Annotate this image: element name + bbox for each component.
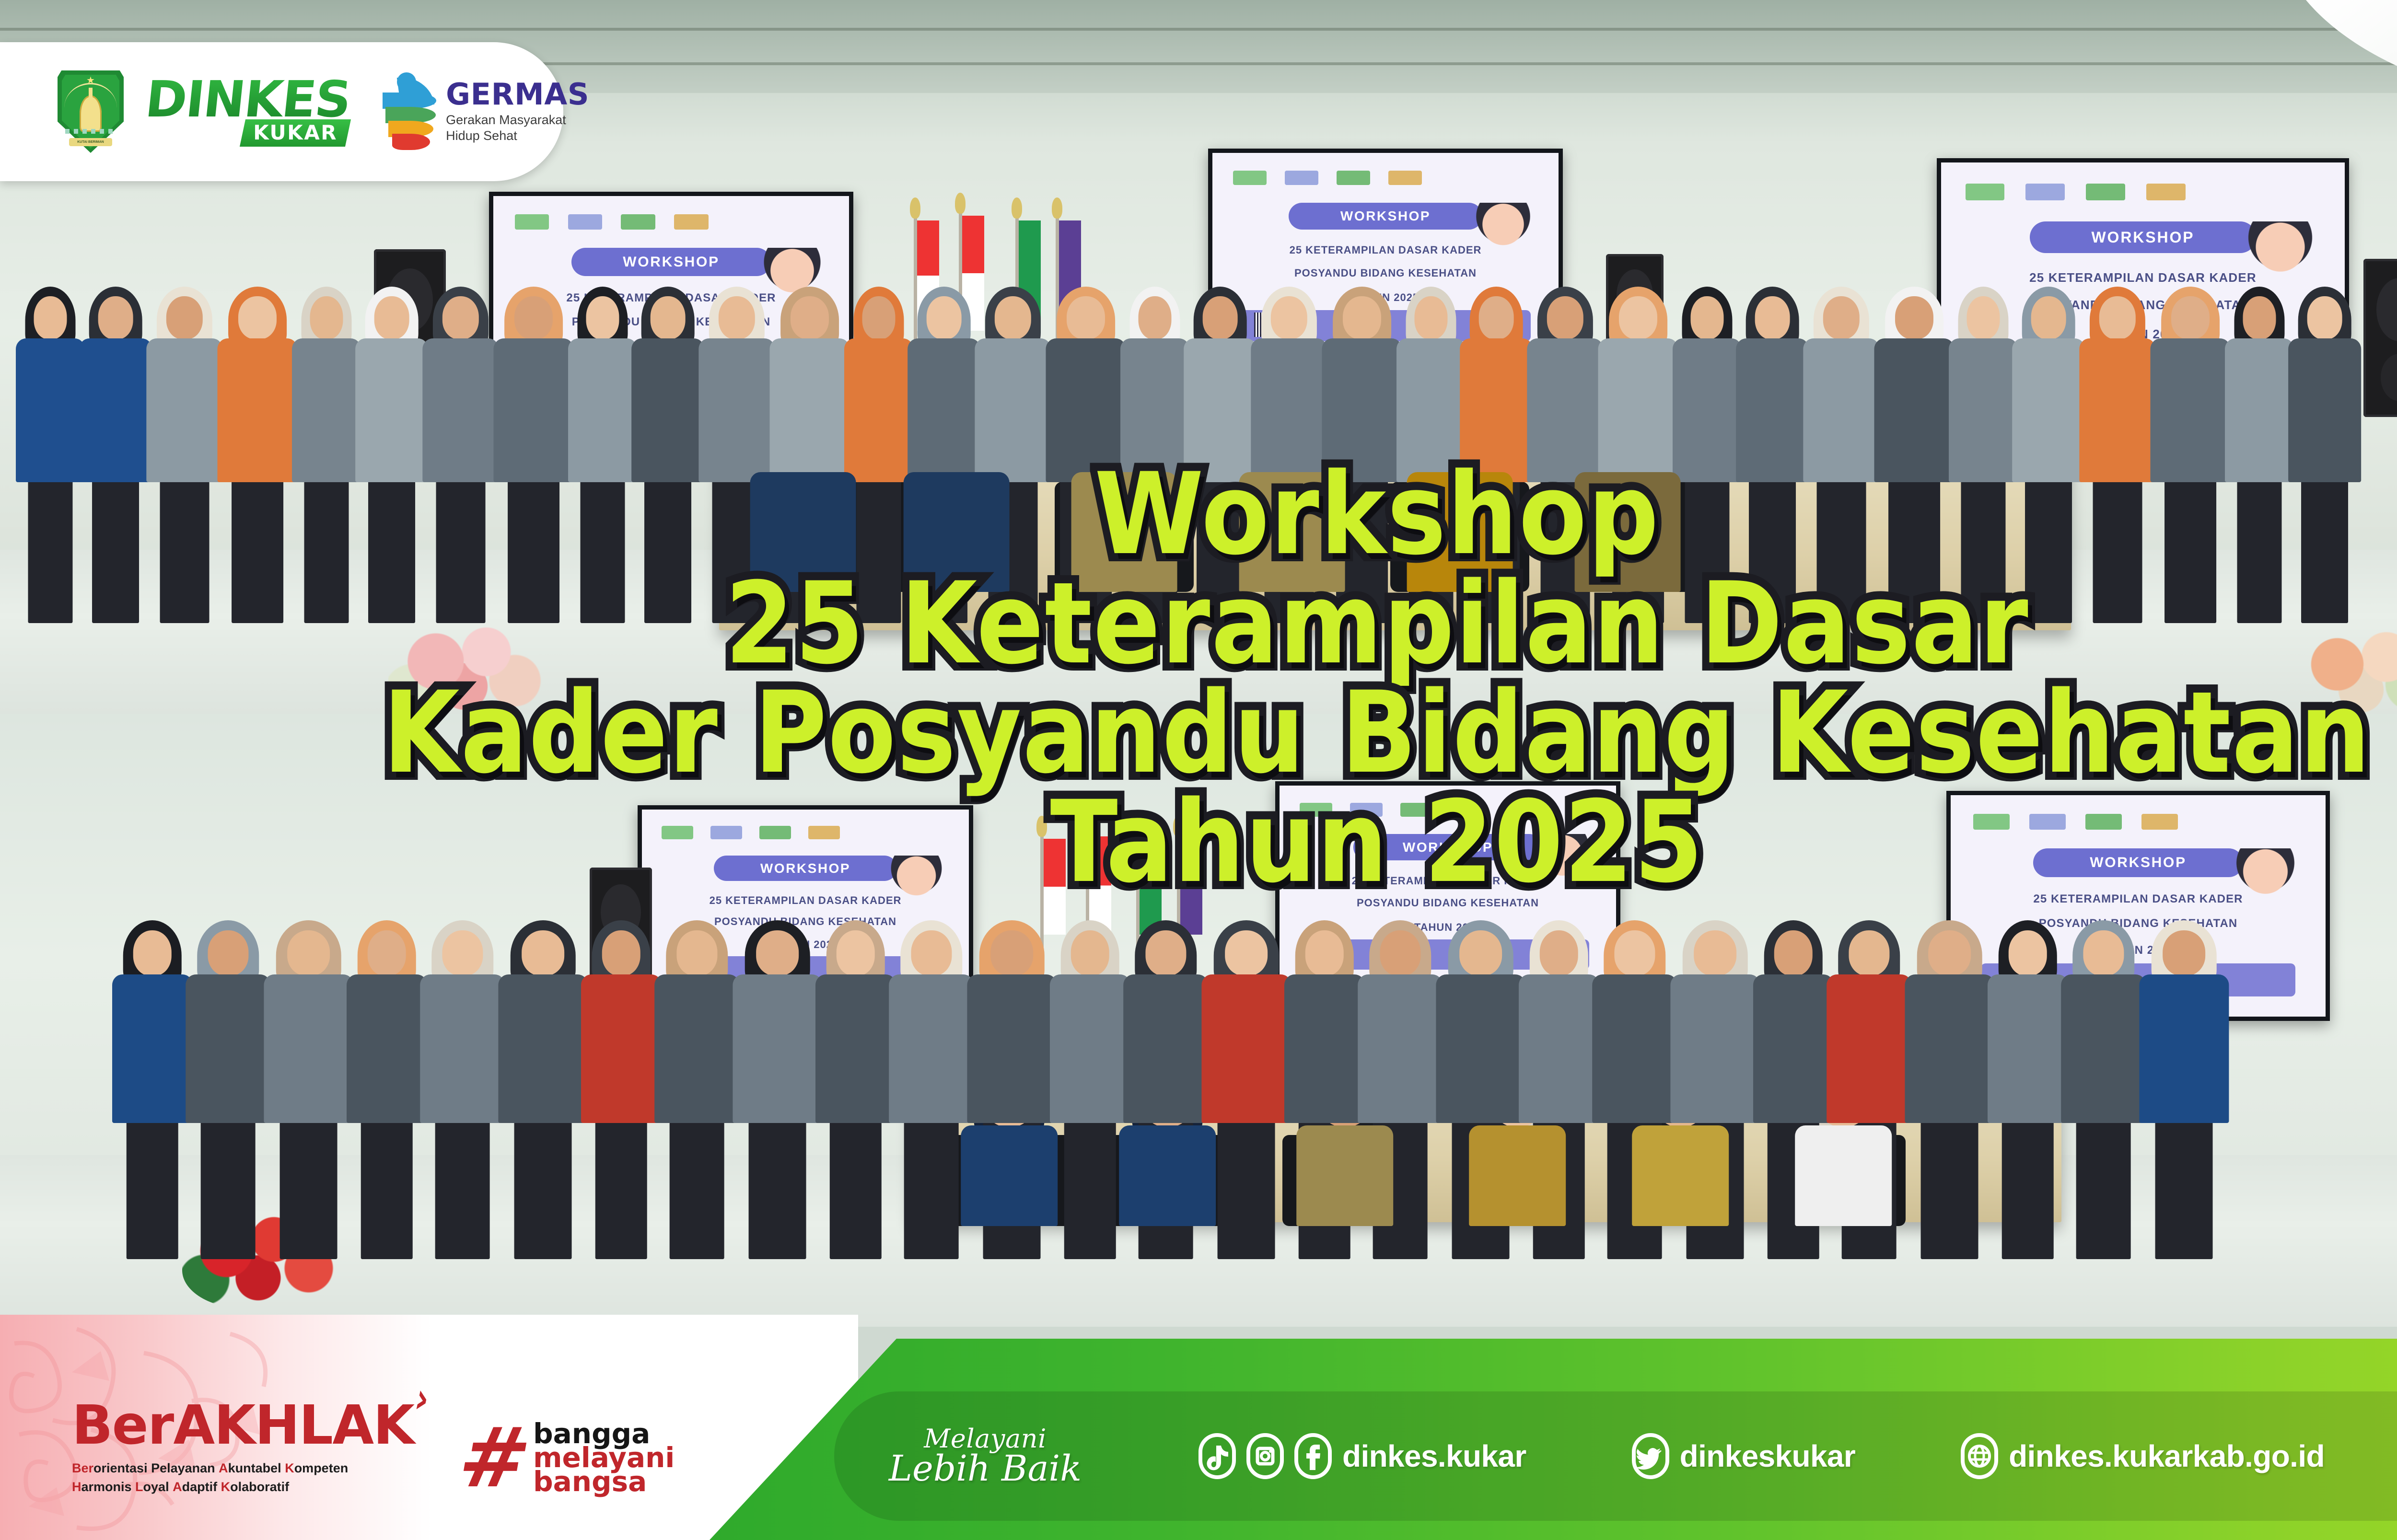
- screen-badge: WORKSHOP: [1289, 203, 1482, 230]
- person-head: [1271, 296, 1307, 339]
- person-head: [2243, 296, 2276, 339]
- person-head: [1694, 930, 1737, 975]
- person-head: [602, 930, 640, 975]
- person-body: [967, 974, 1057, 1123]
- person-body: [904, 472, 1010, 592]
- person-legs: [1217, 1120, 1275, 1259]
- person: [731, 920, 824, 1264]
- person-body: [347, 974, 427, 1123]
- person-legs: [2025, 479, 2072, 623]
- person-body: [908, 338, 980, 482]
- facebook-icon[interactable]: [1294, 1433, 1332, 1479]
- screen-illustration: [2235, 848, 2295, 915]
- person: [262, 920, 355, 1264]
- instagram-icon[interactable]: [1246, 1433, 1284, 1479]
- germas-text-block: GERMAS Gerakan Masyarakat Hidup Sehat: [446, 80, 589, 144]
- berakhlak-logo: BerAKHLAK › Berorientasi Pelayanan Akunt…: [72, 1399, 455, 1496]
- person-legs: [126, 1120, 178, 1259]
- person-head: [756, 930, 799, 975]
- footer: Melayani Lebih Baik: [0, 1315, 2397, 1540]
- berakhlak-sub-line-1: Berorientasi Pelayanan Akuntabel Kompete…: [72, 1459, 455, 1477]
- person: [2223, 287, 2295, 628]
- person-body: [654, 974, 740, 1123]
- person-head: [2008, 930, 2047, 975]
- person-body: [1575, 472, 1681, 592]
- person-body: [1670, 974, 1760, 1123]
- person: [2078, 287, 2157, 628]
- dinkes-wordmark: DINKES KUKAR: [146, 77, 350, 147]
- germas-subtitle-2: Hidup Sehat: [446, 128, 589, 144]
- person-body: [1827, 974, 1912, 1123]
- person-body: [493, 338, 573, 482]
- twitter-icon[interactable]: [1632, 1433, 1669, 1479]
- person-head: [1967, 296, 2000, 339]
- screen-badge: WORKSHOP: [2030, 221, 2256, 254]
- person-head: [1755, 296, 1790, 339]
- person-head: [310, 296, 343, 339]
- person-head: [836, 930, 875, 975]
- screen-illustration: [890, 856, 943, 914]
- person-head: [719, 296, 755, 339]
- handle-website[interactable]: dinkes.kukarkab.go.id: [2009, 1438, 2325, 1474]
- person-head: [2307, 296, 2342, 339]
- person-head: [367, 930, 406, 975]
- person: [2059, 920, 2148, 1264]
- person-body: [1239, 472, 1345, 592]
- person-head: [442, 296, 479, 339]
- person-head: [1415, 296, 1448, 339]
- person-body: [1795, 1125, 1892, 1226]
- person-body: [1736, 338, 1809, 482]
- bangga-melayani-bangsa-logo: # bangga melayani bangsa: [460, 1422, 675, 1494]
- person-body: [815, 974, 896, 1123]
- person: [630, 287, 706, 628]
- person: [110, 920, 194, 1264]
- person-body: [1120, 338, 1189, 482]
- person-head: [1203, 296, 1238, 339]
- person: [145, 287, 224, 628]
- person-legs: [368, 479, 415, 623]
- person-head: [166, 296, 203, 339]
- person-body: [1251, 338, 1327, 482]
- germas-logo: GERMAS Gerakan Masyarakat Hidup Sehat: [383, 71, 589, 152]
- person-body: [2012, 338, 2085, 482]
- person-legs: [1197, 479, 1244, 623]
- screen-line2: POSYANDU BIDANG KESEHATAN: [1226, 267, 1545, 279]
- flower-arrangement-left: [388, 623, 547, 714]
- person-body: [1201, 974, 1291, 1123]
- dinkes-text: DINKES: [143, 77, 352, 123]
- person-legs: [829, 1120, 882, 1259]
- person-head: [862, 296, 896, 339]
- person: [345, 920, 429, 1264]
- screen-badge: WORKSHOP: [1353, 834, 1542, 860]
- person: [421, 287, 500, 628]
- person: [291, 287, 362, 628]
- person-body: [1184, 338, 1257, 482]
- person-body: [186, 974, 271, 1123]
- person-legs: [2001, 1120, 2054, 1259]
- person-body: [2225, 338, 2294, 482]
- screen-illustration: [1476, 203, 1531, 265]
- person: [492, 287, 575, 628]
- person-body: [1753, 974, 1834, 1123]
- person-body: [1673, 338, 1742, 482]
- person-legs: [1749, 479, 1796, 623]
- germas-subtitle-1: Gerakan Masyarakat: [446, 112, 589, 128]
- person-head: [1691, 296, 1724, 339]
- person-body: [1527, 338, 1603, 482]
- person-body: [1071, 472, 1177, 592]
- screen-illustration: [2248, 221, 2313, 295]
- social-group-dinkes-kukar[interactable]: dinkes.kukar: [1198, 1433, 1526, 1479]
- person-body: [1050, 974, 1130, 1123]
- person-head: [1547, 296, 1583, 339]
- person-body: [698, 338, 775, 482]
- kukar-badge-label: KUKAR: [253, 121, 337, 144]
- person-body: [1436, 974, 1525, 1123]
- person-legs: [279, 1120, 337, 1259]
- person-body: [1803, 338, 1879, 482]
- person-body: [1296, 1125, 1393, 1226]
- person-head: [208, 930, 248, 975]
- person-head: [586, 296, 619, 339]
- person-body: [1284, 974, 1365, 1123]
- person: [814, 920, 897, 1264]
- person-body: [2079, 338, 2155, 482]
- person-head: [514, 296, 553, 339]
- bangga-words: bangga melayani bangsa: [533, 1422, 675, 1494]
- person-head: [676, 930, 717, 975]
- person-head: [522, 930, 565, 975]
- social-group-twitter[interactable]: dinkeskukar: [1632, 1433, 1856, 1479]
- person-head: [442, 930, 483, 975]
- person: [579, 920, 663, 1264]
- person-legs: [904, 1120, 959, 1259]
- person: [78, 287, 153, 628]
- person-legs: [748, 1120, 806, 1259]
- person-body: [631, 338, 704, 482]
- slogan-line-1: Melayani: [882, 1426, 1088, 1451]
- person-legs: [1064, 1120, 1116, 1259]
- person-body: [1119, 1125, 1216, 1226]
- person-legs: [28, 479, 73, 623]
- photo-bottom: WORKSHOP 25 KETERAMPILAN DASAR KADER POS…: [0, 714, 2397, 1327]
- person-head: [1139, 296, 1172, 339]
- screen-badge: WORKSHOP: [714, 856, 897, 880]
- person-legs: [435, 1120, 490, 1259]
- person-head: [2171, 296, 2210, 339]
- person-body: [146, 338, 222, 482]
- person-head: [1479, 296, 1514, 339]
- person-body: [16, 338, 85, 482]
- person-legs: [2093, 479, 2142, 623]
- person-body: [1632, 1125, 1729, 1226]
- person-head: [374, 296, 409, 339]
- person-head: [911, 930, 952, 975]
- person-head: [990, 930, 1034, 975]
- person-body: [581, 974, 662, 1123]
- person-head: [98, 296, 133, 339]
- person-body: [975, 338, 1051, 482]
- social-group-website[interactable]: dinkes.kukarkab.go.id: [1961, 1433, 2325, 1479]
- person-body: [498, 974, 588, 1123]
- person-body: [1519, 974, 1599, 1123]
- person-legs: [669, 1120, 724, 1259]
- person-body: [733, 974, 822, 1123]
- person-legs: [160, 479, 209, 623]
- person-body: [1988, 974, 2068, 1123]
- person-body: [1396, 338, 1466, 482]
- person-head: [238, 296, 277, 339]
- person-head: [1071, 930, 1109, 975]
- person-legs: [1961, 479, 2006, 623]
- person-legs: [514, 1120, 572, 1259]
- person-legs: [581, 479, 625, 623]
- person-legs: [1817, 479, 1866, 623]
- person-legs: [1920, 1120, 1978, 1259]
- person: [2137, 920, 2231, 1264]
- person-body: [1874, 338, 1954, 482]
- person-body: [292, 338, 361, 482]
- person-body: [1598, 338, 1678, 482]
- person-body: [750, 472, 856, 592]
- person-head: [2083, 930, 2124, 975]
- berakhlak-word-text: BerAKHLAK: [72, 1394, 414, 1457]
- person-legs: [232, 479, 283, 623]
- person-body: [355, 338, 428, 482]
- kukar-emblem-icon: ★ KUTAI BERIMAN: [58, 70, 124, 153]
- person-body: [889, 974, 974, 1123]
- person-head: [1305, 930, 1344, 975]
- person-legs: [436, 479, 486, 623]
- screen-badge: WORKSHOP: [2033, 848, 2243, 877]
- person-legs: [2301, 479, 2348, 623]
- screen-badge: WORKSHOP: [571, 248, 771, 276]
- hashtag-icon: #: [455, 1428, 535, 1488]
- person-legs: [2237, 479, 2282, 623]
- slogan-melayani-lebih-baik: Melayani Lebih Baik: [882, 1426, 1088, 1486]
- germas-title: GERMAS: [446, 80, 589, 109]
- person-head: [1343, 296, 1381, 339]
- person-legs: [595, 1120, 647, 1259]
- kukar-badge: KUKAR: [240, 119, 351, 147]
- berakhlak-sub-line-2: Harmonis Loyal Adaptif Kolaboratif: [72, 1478, 455, 1496]
- person-body: [1358, 974, 1443, 1123]
- person-head: [133, 930, 172, 975]
- person: [496, 920, 590, 1264]
- berakhlak-subtitle: Berorientasi Pelayanan Akuntabel Kompete…: [72, 1459, 455, 1496]
- person-body: [2150, 338, 2230, 482]
- person-body: [568, 338, 637, 482]
- person-body: [769, 338, 849, 482]
- person-legs: [2155, 1120, 2213, 1259]
- tiktok-icon[interactable]: [1198, 1433, 1236, 1479]
- person-legs: [2164, 479, 2216, 623]
- logo-card: ★ KUTAI BERIMAN DINKES KUKAR GERMAS G: [0, 42, 563, 181]
- person-body: [1322, 338, 1402, 482]
- person-head: [1539, 930, 1578, 975]
- person-legs: [200, 1120, 256, 1259]
- person-body: [1460, 338, 1533, 482]
- person-head: [1067, 296, 1105, 339]
- person-body: [1592, 974, 1677, 1123]
- person-legs: [1685, 479, 1730, 623]
- person-head: [2163, 930, 2206, 975]
- person-head: [1225, 930, 1268, 975]
- person-body: [264, 974, 353, 1123]
- person-legs: [2076, 1120, 2131, 1259]
- person-head: [1928, 930, 1971, 975]
- emblem-ribbon-text: KUTAI BERIMAN: [69, 138, 112, 146]
- person-head: [651, 296, 686, 339]
- berakhlak-wordmark: BerAKHLAK ›: [72, 1399, 414, 1452]
- person-body: [1905, 974, 1994, 1123]
- person-body: [844, 338, 913, 482]
- screen-illustration: [1536, 834, 1589, 895]
- person-legs: [1888, 479, 1940, 623]
- person-body: [2139, 974, 2229, 1123]
- person-legs: [304, 479, 349, 623]
- person-head: [287, 930, 330, 975]
- person: [216, 287, 299, 628]
- person: [14, 287, 86, 628]
- globe-icon[interactable]: [1961, 1433, 1998, 1479]
- person-head: [34, 296, 67, 339]
- speaker-right: [2363, 259, 2397, 417]
- person-body: [420, 974, 505, 1123]
- person-body: [422, 338, 499, 482]
- person: [567, 287, 639, 628]
- person-body: [112, 974, 193, 1123]
- person-head: [995, 296, 1031, 339]
- person: [2149, 287, 2232, 628]
- person-body: [1123, 974, 1209, 1123]
- person-body: [217, 338, 297, 482]
- person: [2287, 287, 2362, 628]
- person-head: [1849, 930, 1889, 975]
- person-body: [1949, 338, 2018, 482]
- person-head: [1895, 296, 1933, 339]
- person-head: [1823, 296, 1860, 339]
- person-body: [2061, 974, 2146, 1123]
- person-head: [1619, 296, 1657, 339]
- person-head: [927, 296, 962, 339]
- person-body: [1407, 472, 1513, 592]
- person-legs: [361, 1120, 413, 1259]
- person-body: [2288, 338, 2361, 482]
- poster-canvas: WORKSHOP 25 KETERAMPILAN DASAR KADER POS…: [0, 0, 2397, 1540]
- footer-content: Melayani Lebih Baik: [834, 1391, 2397, 1521]
- person-head: [1459, 930, 1502, 975]
- slogan-line-2: Lebih Baik: [882, 1452, 1088, 1486]
- person-body: [1469, 1125, 1566, 1226]
- handle-dinkeskukar[interactable]: dinkeskukar: [1680, 1438, 1856, 1474]
- person: [354, 287, 430, 628]
- person-head: [2099, 296, 2136, 339]
- person-legs: [92, 479, 139, 623]
- person-legs: [857, 479, 901, 623]
- person-legs: [508, 479, 559, 623]
- person-head: [1614, 930, 1655, 975]
- person-head: [1774, 930, 1813, 975]
- handle-dinkes-kukar[interactable]: dinkes.kukar: [1342, 1438, 1526, 1474]
- person-body: [1046, 338, 1126, 482]
- person-body: [79, 338, 152, 482]
- person-head: [1145, 930, 1186, 975]
- person-legs: [644, 479, 691, 623]
- screen-line2: POSYANDU BIDANG KESEHATAN: [1293, 897, 1603, 909]
- person-head: [2031, 296, 2066, 339]
- person-head: [791, 296, 829, 339]
- person-body: [961, 1125, 1058, 1226]
- person: [652, 920, 741, 1264]
- germas-figure-icon: [383, 71, 436, 152]
- person: [418, 920, 507, 1264]
- person-head: [1380, 930, 1420, 975]
